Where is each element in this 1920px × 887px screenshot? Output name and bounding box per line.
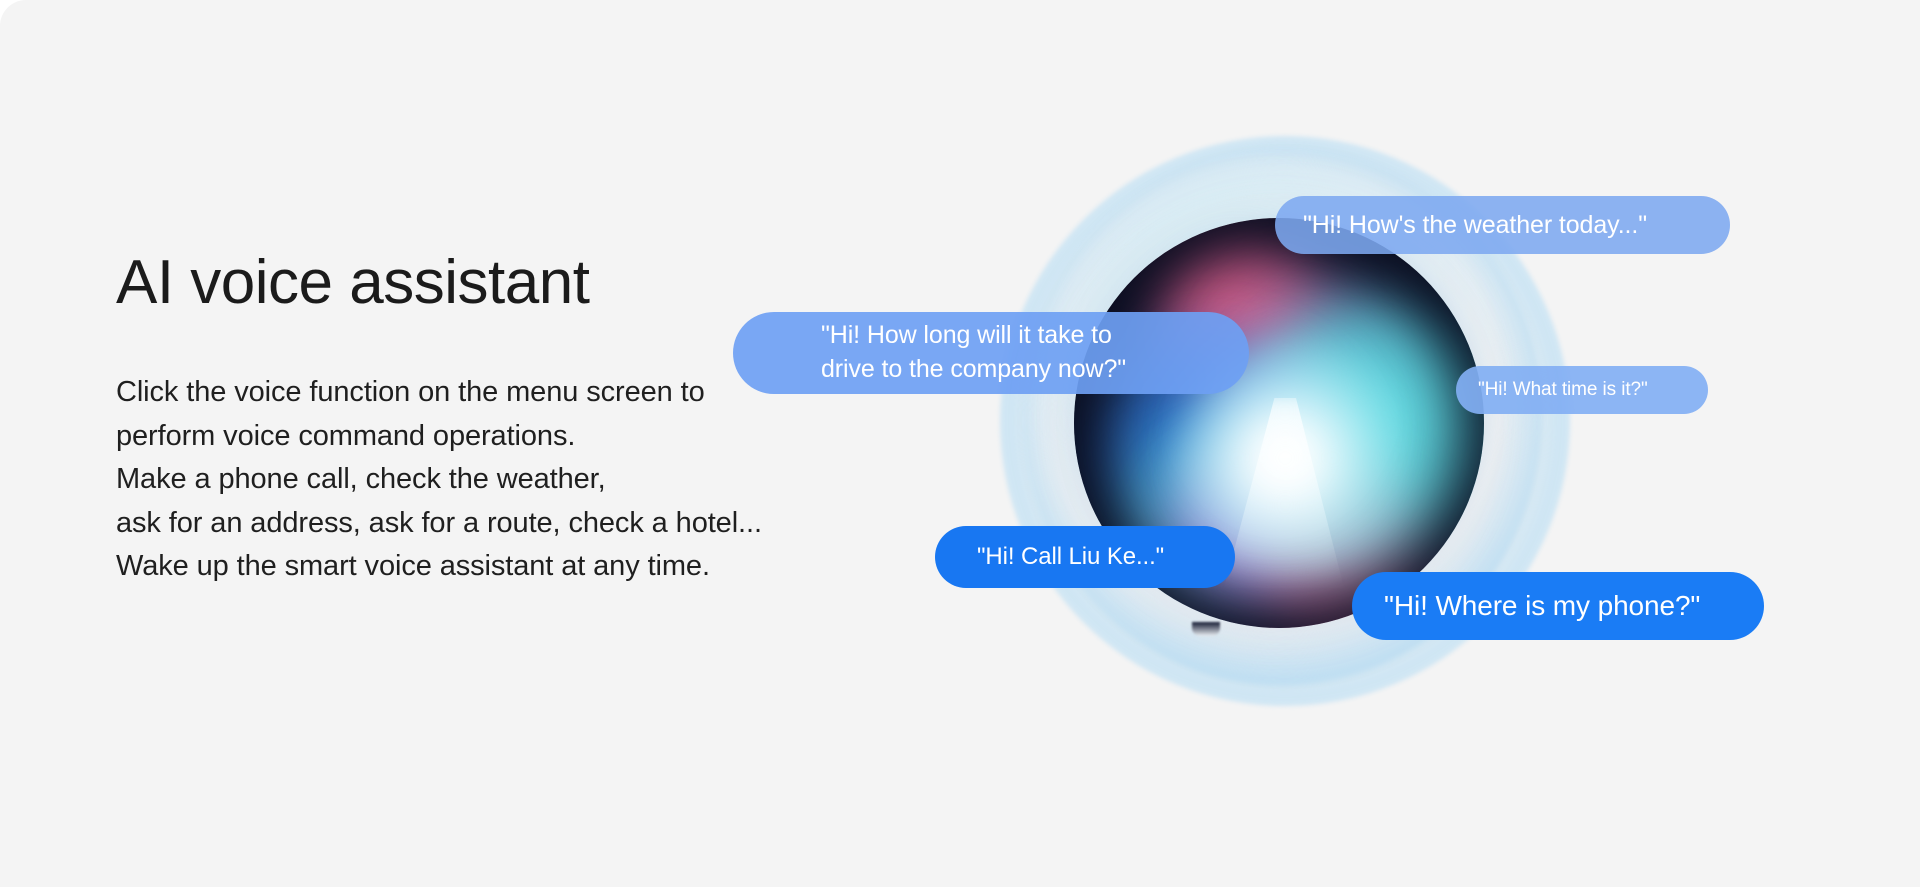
description-line-2: perform voice command operations. (116, 415, 936, 459)
speech-bubble-find-phone-text: "Hi! Where is my phone?" (1384, 590, 1700, 622)
speech-bubble-current-time-text: "Hi! What time is it?" (1478, 379, 1648, 401)
speech-bubble-call-contact[interactable]: "Hi! Call Liu Ke..." (935, 526, 1235, 588)
speech-bubble-call-contact-text: "Hi! Call Liu Ke..." (977, 543, 1164, 571)
promo-banner: AI voice assistant Click the voice funct… (0, 0, 1920, 887)
speech-bubble-drive-time-text: "Hi! How long will it take to drive to t… (821, 319, 1126, 387)
page-title: AI voice assistant (116, 250, 936, 315)
speech-bubble-drive-time[interactable]: "Hi! How long will it take to drive to t… (733, 312, 1249, 394)
orb-base-stem (1192, 622, 1220, 636)
description-line-4: ask for an address, ask for a route, che… (116, 502, 936, 546)
speech-bubble-current-time[interactable]: "Hi! What time is it?" (1456, 366, 1708, 414)
text-column: AI voice assistant Click the voice funct… (116, 250, 936, 589)
speech-bubble-weather[interactable]: "Hi! How's the weather today..." (1275, 196, 1730, 254)
speech-bubble-weather-text: "Hi! How's the weather today..." (1303, 211, 1647, 240)
speech-bubble-find-phone[interactable]: "Hi! Where is my phone?" (1352, 572, 1764, 640)
description-line-3: Make a phone call, check the weather, (116, 458, 936, 502)
description-line-5: Wake up the smart voice assistant at any… (116, 545, 936, 589)
